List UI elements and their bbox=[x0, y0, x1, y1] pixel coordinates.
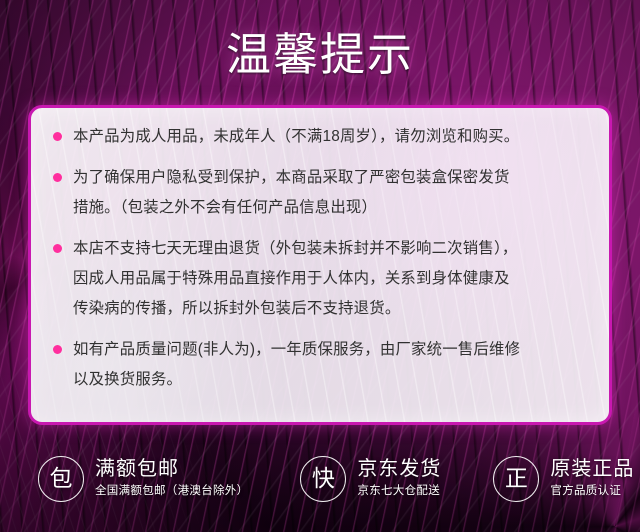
badge-authentic: 正 原装正品 官方品质认证 bbox=[493, 456, 634, 502]
badge-subtitle: 官方品质认证 bbox=[550, 482, 634, 500]
badge-title: 原装正品 bbox=[550, 457, 634, 482]
badge-title: 满额包邮 bbox=[95, 457, 248, 482]
list-item: 如有产品质量问题(非人为)，一年质保服务，由厂家统一售后维修 以及换货服务。 bbox=[53, 335, 587, 395]
badge-free-shipping: 包 满额包邮 全国满额包邮（港澳台除外） bbox=[38, 456, 248, 502]
badge-text-group: 原装正品 官方品质认证 bbox=[550, 457, 634, 500]
notice-text: 为了确保用户隐私受到保护，本商品采取了严密包装盒保密发货 措施。（包装之外不会有… bbox=[73, 163, 510, 223]
notice-text: 如有产品质量问题(非人为)，一年质保服务，由厂家统一售后维修 以及换货服务。 bbox=[73, 335, 520, 395]
list-item: 为了确保用户隐私受到保护，本商品采取了严密包装盒保密发货 措施。（包装之外不会有… bbox=[53, 163, 587, 223]
promo-banner: 温馨提示 本产品为成人用品，未成年人（不满18周岁），请勿浏览和购买。 为了确保… bbox=[0, 0, 640, 532]
list-item: 本店不支持七天无理由退货（外包装未拆封并不影响二次销售）， 因成人用品属于特殊用… bbox=[53, 234, 587, 324]
bullet-dot-icon bbox=[53, 345, 62, 354]
badge-text-group: 满额包邮 全国满额包邮（港澳台除外） bbox=[95, 457, 248, 500]
authentic-icon: 正 bbox=[493, 456, 539, 502]
badge-title: 京东发货 bbox=[357, 457, 441, 482]
notice-list: 本产品为成人用品，未成年人（不满18周岁），请勿浏览和购买。 为了确保用户隐私受… bbox=[31, 108, 609, 395]
free-shipping-icon: 包 bbox=[38, 456, 84, 502]
badge-fast-delivery: 快 京东发货 京东七大仓配送 bbox=[300, 456, 441, 502]
fast-delivery-icon: 快 bbox=[300, 456, 346, 502]
badge-subtitle: 京东七大仓配送 bbox=[357, 482, 441, 500]
badge-text-group: 京东发货 京东七大仓配送 bbox=[357, 457, 441, 500]
notice-text: 本店不支持七天无理由退货（外包装未拆封并不影响二次销售）， 因成人用品属于特殊用… bbox=[73, 234, 517, 324]
list-item: 本产品为成人用品，未成年人（不满18周岁），请勿浏览和购买。 bbox=[53, 122, 587, 152]
bullet-dot-icon bbox=[53, 132, 62, 141]
notice-card: 本产品为成人用品，未成年人（不满18周岁），请勿浏览和购买。 为了确保用户隐私受… bbox=[28, 105, 612, 425]
bullet-dot-icon bbox=[53, 173, 62, 182]
footer-badges: 包 满额包邮 全国满额包邮（港澳台除外） 快 京东发货 京东七大仓配送 正 原装… bbox=[0, 425, 640, 532]
notice-text: 本产品为成人用品，未成年人（不满18周岁），请勿浏览和购买。 bbox=[73, 122, 519, 152]
page-title: 温馨提示 bbox=[0, 24, 640, 86]
badge-subtitle: 全国满额包邮（港澳台除外） bbox=[95, 482, 248, 500]
bullet-dot-icon bbox=[53, 244, 62, 253]
